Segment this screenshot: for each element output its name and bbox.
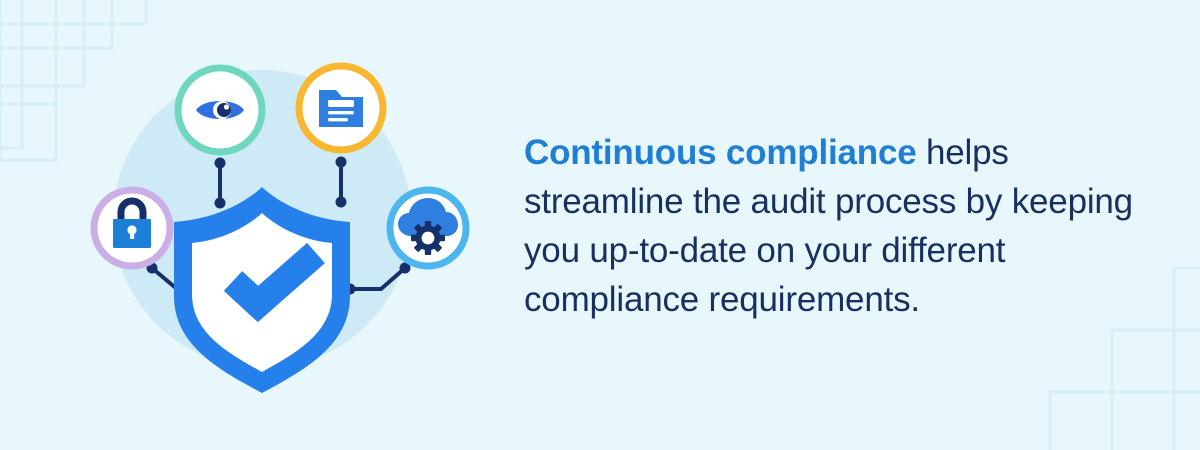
headline-lead: Continuous compliance [524,133,917,172]
compliance-illustration [0,0,520,450]
gear-icon [411,221,445,255]
badge-lock [94,190,170,266]
badge-folder [299,66,383,150]
copy-block: Continuous compliance helps streamline t… [524,128,1144,324]
headline-paragraph: Continuous compliance helps streamline t… [524,128,1144,324]
badge-eye [178,68,262,152]
badge-cloud-gear [390,190,466,266]
illustration-banner: Continuous compliance helps streamline t… [0,0,1200,450]
